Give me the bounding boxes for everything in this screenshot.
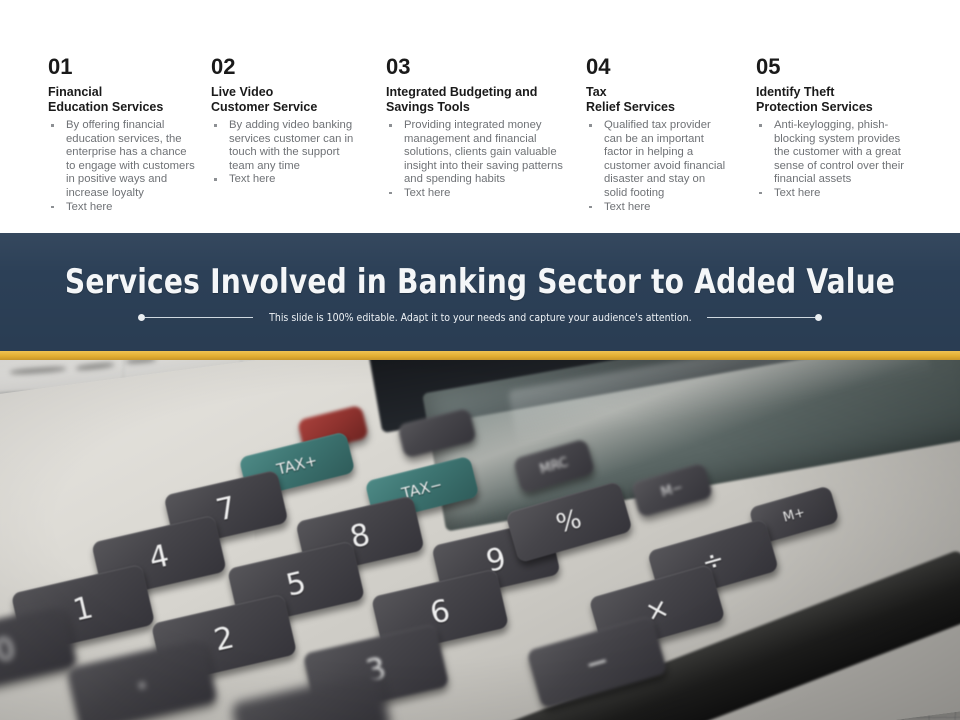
list-item: Text here	[756, 187, 908, 201]
calculator-photo: TAX+ TAX− MRC M− M+ 7 8 9 % ÷ 4 5 6 × − …	[0, 360, 960, 720]
right-connector-line	[707, 317, 815, 318]
bullet-text: Anti-keylogging, phish-blocking system p…	[774, 119, 904, 185]
bullet-icon	[759, 124, 762, 127]
list-item: Text here	[386, 187, 566, 201]
column-number: 02	[211, 55, 356, 79]
bullet-icon	[51, 124, 54, 127]
column-bullet-list: By adding video banking services custome…	[211, 119, 356, 187]
column-bullet-list: Anti-keylogging, phish-blocking system p…	[756, 119, 908, 201]
bullet-icon	[759, 192, 762, 195]
bullet-text: Providing integrated money management an…	[404, 119, 563, 185]
slide-root: 01 Financial Education Services By offer…	[0, 0, 960, 720]
gold-divider	[0, 351, 960, 360]
bullet-text: Text here	[229, 173, 275, 185]
right-dot-icon	[815, 314, 822, 321]
column-number: 01	[48, 55, 196, 79]
list-item: Text here	[211, 173, 356, 187]
bullet-text: By offering financial education services…	[66, 119, 195, 199]
list-item: Text here	[48, 201, 196, 215]
column-number: 03	[386, 55, 566, 79]
page-subtitle: This slide is 100% editable. Adapt it to…	[264, 311, 696, 324]
bullet-text: Qualified tax provider can be an importa…	[604, 119, 725, 199]
list-item: By offering financial education services…	[48, 119, 196, 201]
title-banner: Services Involved in Banking Sector to A…	[0, 233, 960, 351]
column-title: Identify Theft Protection Services	[756, 85, 908, 115]
column-bullet-list: Providing integrated money management an…	[386, 119, 566, 201]
bullet-text: Text here	[774, 187, 820, 199]
left-connector-line	[145, 317, 253, 318]
service-column-3: 03 Integrated Budgeting and Savings Tool…	[386, 55, 566, 201]
page-title: Services Involved in Banking Sector to A…	[38, 262, 921, 302]
column-number: 04	[586, 55, 731, 79]
bullet-icon	[389, 124, 392, 127]
service-column-4: 04 Tax Relief Services Qualified tax pro…	[586, 55, 731, 214]
column-title: Tax Relief Services	[586, 85, 731, 115]
list-item: Text here	[586, 201, 731, 215]
service-column-5: 05 Identify Theft Protection Services An…	[756, 55, 908, 201]
service-column-2: 02 Live Video Customer Service By adding…	[211, 55, 356, 187]
bullet-icon	[589, 206, 592, 209]
bullet-icon	[51, 206, 54, 209]
list-item: Providing integrated money management an…	[386, 119, 566, 187]
bullet-icon	[589, 124, 592, 127]
column-title: Integrated Budgeting and Savings Tools	[386, 85, 566, 115]
bullet-text: Text here	[404, 187, 450, 199]
services-columns: 01 Financial Education Services By offer…	[0, 0, 960, 235]
column-title: Financial Education Services	[48, 85, 196, 115]
subtitle-row: This slide is 100% editable. Adapt it to…	[0, 308, 960, 326]
bullet-icon	[214, 124, 217, 127]
bullet-icon	[389, 192, 392, 195]
column-bullet-list: By offering financial education services…	[48, 119, 196, 214]
list-item: Qualified tax provider can be an importa…	[586, 119, 731, 201]
list-item: Anti-keylogging, phish-blocking system p…	[756, 119, 908, 187]
left-dot-icon	[138, 314, 145, 321]
column-title: Live Video Customer Service	[211, 85, 356, 115]
column-number: 05	[756, 55, 908, 79]
bullet-text: By adding video banking services custome…	[229, 119, 353, 172]
list-item: By adding video banking services custome…	[211, 119, 356, 173]
bullet-icon	[214, 178, 217, 181]
bullet-text: Text here	[66, 201, 112, 213]
bullet-text: Text here	[604, 201, 650, 213]
column-bullet-list: Qualified tax provider can be an importa…	[586, 119, 731, 214]
service-column-1: 01 Financial Education Services By offer…	[48, 55, 196, 214]
